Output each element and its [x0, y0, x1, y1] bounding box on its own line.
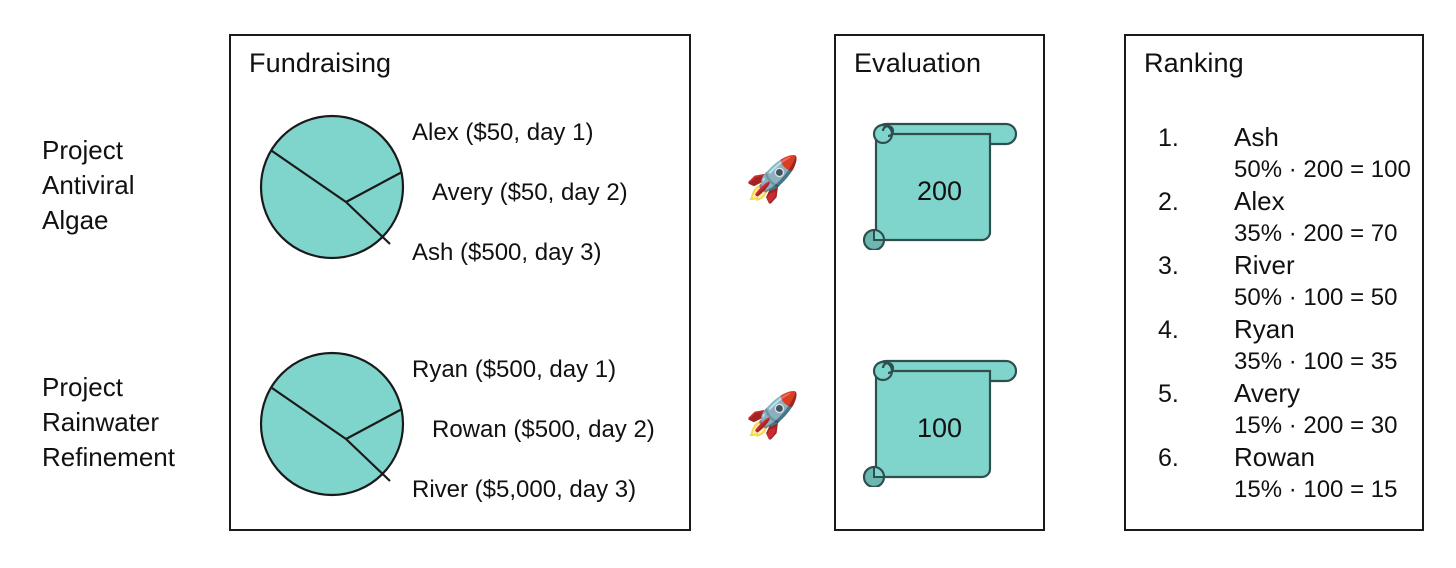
- ranking-position: 3.: [1158, 252, 1204, 281]
- panel-ranking: Ranking 1. Ash 50% · 200 = 100 2. Alex 3…: [1124, 34, 1424, 531]
- ranking-formula: 35% · 100 = 35: [1234, 348, 1397, 376]
- ranking-name: Ryan: [1234, 314, 1295, 345]
- ranking-item: 1. Ash 50% · 200 = 100: [1146, 124, 1422, 188]
- donor-label: Rowan ($500, day 2): [412, 415, 655, 475]
- ranking-name: Avery: [1234, 378, 1300, 409]
- ranking-name: Rowan: [1234, 442, 1315, 473]
- donor-label: Alex ($50, day 1): [412, 118, 628, 178]
- evaluation-scroll-rainwater-refinement: 100: [862, 357, 1022, 492]
- donor-label: Ash ($500, day 3): [412, 238, 628, 298]
- project-label-rainwater-refinement: Project Rainwater Refinement: [42, 370, 175, 475]
- ranking-item: 3. River 50% · 100 = 50: [1146, 252, 1422, 316]
- ranking-item: 2. Alex 35% · 200 = 70: [1146, 188, 1422, 252]
- donor-list-rainwater-refinement: Ryan ($500, day 1) Rowan ($500, day 2) R…: [412, 355, 655, 535]
- donor-list-antiviral-algae: Alex ($50, day 1) Avery ($50, day 2) Ash…: [412, 118, 628, 298]
- ranking-name: Alex: [1234, 186, 1285, 217]
- ranking-position: 5.: [1158, 380, 1204, 409]
- ranking-name: Ash: [1234, 122, 1279, 153]
- rocket-icon: 🚀: [745, 158, 800, 202]
- evaluation-scroll-antiviral-algae: 200: [862, 120, 1022, 255]
- pie-chart-antiviral-algae: [258, 112, 406, 267]
- ranking-formula: 15% · 100 = 15: [1234, 476, 1397, 504]
- ranking-formula: 50% · 200 = 100: [1234, 156, 1411, 184]
- ranking-formula: 35% · 200 = 70: [1234, 220, 1397, 248]
- project-label-antiviral-algae: Project Antiviral Algae: [42, 133, 134, 238]
- ranking-name: River: [1234, 250, 1295, 281]
- donor-label: River ($5,000, day 3): [412, 475, 655, 535]
- panel-title-fundraising: Fundraising: [249, 48, 391, 79]
- ranking-item: 6. Rowan 15% · 100 = 15: [1146, 444, 1422, 508]
- panel-title-ranking: Ranking: [1144, 48, 1244, 79]
- scroll-icon: [862, 120, 1022, 250]
- panel-title-evaluation: Evaluation: [854, 48, 981, 79]
- donor-label: Ryan ($500, day 1): [412, 355, 655, 415]
- ranking-position: 6.: [1158, 444, 1204, 473]
- ranking-list: 1. Ash 50% · 200 = 100 2. Alex 35% · 200…: [1146, 124, 1422, 508]
- ranking-formula: 50% · 100 = 50: [1234, 284, 1397, 312]
- ranking-position: 1.: [1158, 124, 1204, 153]
- pie-chart-rainwater-refinement: [258, 349, 406, 504]
- donor-label: Avery ($50, day 2): [412, 178, 628, 238]
- ranking-position: 4.: [1158, 316, 1204, 345]
- ranking-formula: 15% · 200 = 30: [1234, 412, 1397, 440]
- ranking-position: 2.: [1158, 188, 1204, 217]
- rocket-icon: 🚀: [745, 394, 800, 438]
- diagram-canvas: Project Antiviral Algae Project Rainwate…: [0, 0, 1456, 568]
- ranking-item: 4. Ryan 35% · 100 = 35: [1146, 316, 1422, 380]
- ranking-item: 5. Avery 15% · 200 = 30: [1146, 380, 1422, 444]
- scroll-icon: [862, 357, 1022, 487]
